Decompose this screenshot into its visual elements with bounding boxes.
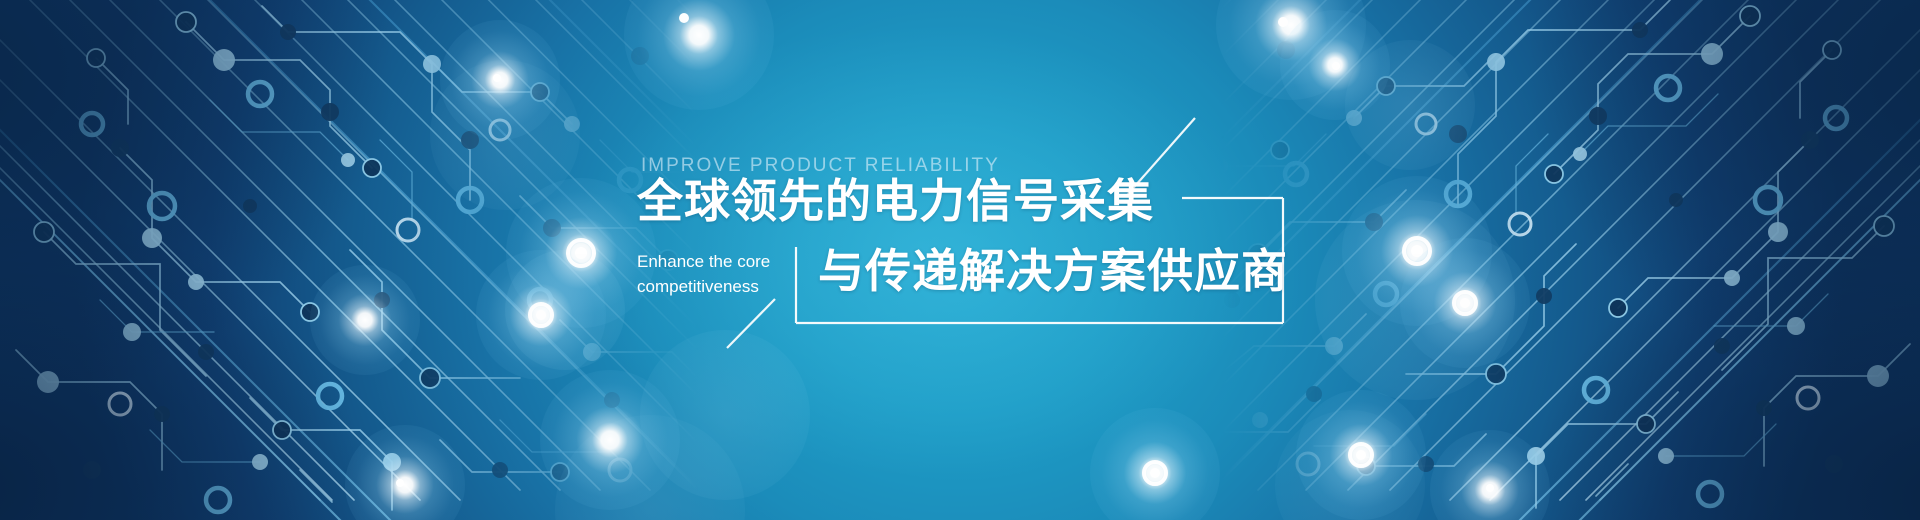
banner-subline: Enhance the core competitiveness	[637, 250, 770, 299]
banner-content: IMPROVE PRODUCT RELIABILITY 全球领先的电力信号采集 …	[0, 0, 1920, 520]
banner-subline-line-1: Enhance the core	[637, 250, 770, 275]
banner-subline-line-2: competitiveness	[637, 275, 770, 300]
banner-eyebrow: IMPROVE PRODUCT RELIABILITY	[641, 155, 1000, 177]
hero-banner: IMPROVE PRODUCT RELIABILITY 全球领先的电力信号采集 …	[0, 0, 1920, 520]
banner-headline-line-1: 全球领先的电力信号采集	[637, 178, 1154, 224]
banner-headline-line-2: 与传递解决方案供应商	[818, 248, 1288, 294]
